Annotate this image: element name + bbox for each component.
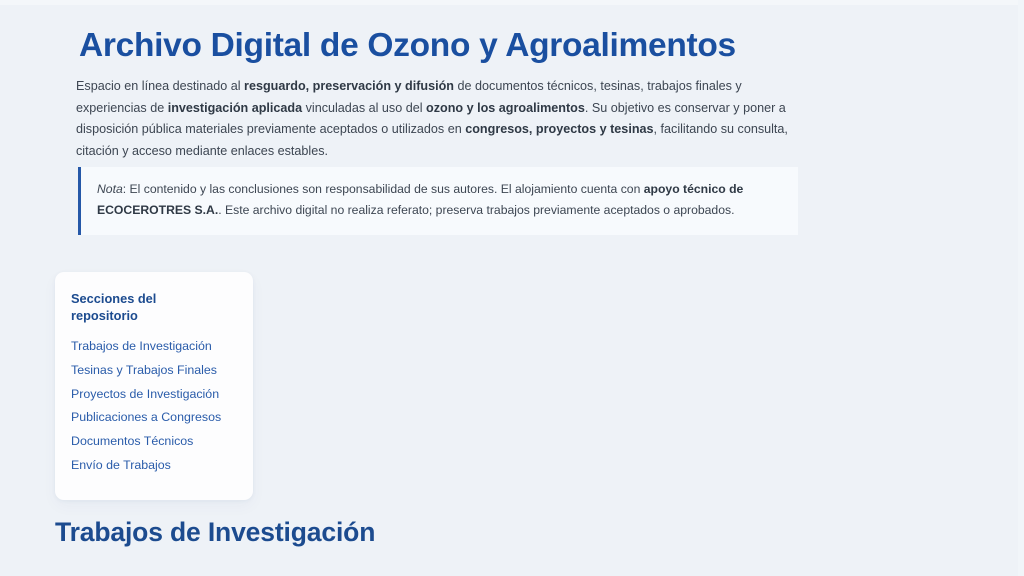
list-item: Tesinas y Trabajos Finales [71, 359, 237, 383]
page-title: Archivo Digital de Ozono y Agroalimentos [79, 26, 879, 66]
section-heading-trabajos-de-investigacion: Trabajos de Investigación [55, 516, 375, 549]
list-item: Trabajos de Investigación [71, 335, 237, 359]
intro-text-3: vinculadas al uso del [302, 101, 426, 115]
note-label: Nota [97, 182, 123, 196]
intro-bold-4: congresos, proyectos y tesinas [465, 122, 653, 136]
sections-card-title: Secciones del repositorio [71, 290, 181, 324]
intro-bold-3: ozono y los agroalimentos [426, 101, 585, 115]
sidebar-item-publicaciones-a-congresos[interactable]: Publicaciones a Congresos [71, 406, 237, 430]
sidebar-item-proyectos-de-investigacion[interactable]: Proyectos de Investigación [71, 383, 237, 407]
sidebar-item-trabajos-de-investigacion[interactable]: Trabajos de Investigación [71, 335, 237, 359]
note-callout: Nota: El contenido y las conclusiones so… [78, 167, 798, 235]
sections-nav-list: Trabajos de Investigación Tesinas y Trab… [71, 335, 237, 478]
sidebar-item-documentos-tecnicos[interactable]: Documentos Técnicos [71, 430, 237, 454]
intro-bold-2: investigación aplicada [168, 101, 302, 115]
note-text-2: . Este archivo digital no realiza refera… [218, 203, 734, 217]
intro-paragraph: Espacio en línea destinado al resguardo,… [76, 76, 798, 162]
list-item: Publicaciones a Congresos [71, 406, 237, 430]
list-item: Proyectos de Investigación [71, 383, 237, 407]
list-item: Documentos Técnicos [71, 430, 237, 454]
note-text-1: : El contenido y las conclusiones son re… [123, 182, 644, 196]
intro-bold-1: resguardo, preservación y difusión [244, 79, 454, 93]
sidebar-item-envio-de-trabajos[interactable]: Envío de Trabajos [71, 454, 237, 478]
sidebar-item-tesinas-y-trabajos-finales[interactable]: Tesinas y Trabajos Finales [71, 359, 237, 383]
list-item: Envío de Trabajos [71, 454, 237, 478]
page-container: Archivo Digital de Ozono y Agroalimentos… [0, 0, 1024, 576]
sections-card: Secciones del repositorio Trabajos de In… [55, 272, 253, 500]
intro-text-1: Espacio en línea destinado al [76, 79, 244, 93]
